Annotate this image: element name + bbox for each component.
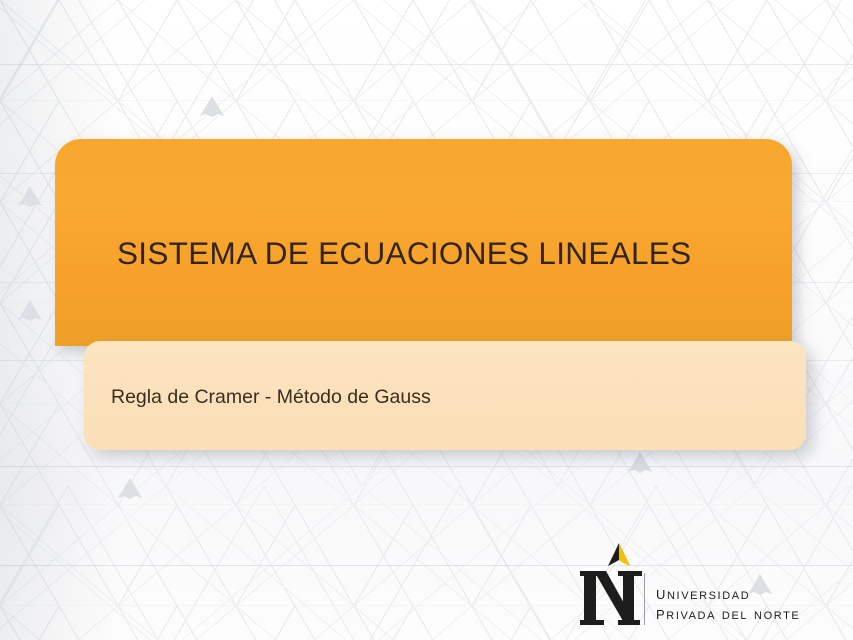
logo-wordmark: Universidad Privada del Norte — [656, 584, 800, 629]
chevron-up-icon — [118, 478, 142, 499]
upn-n-monogram-icon — [578, 541, 644, 629]
subtitle-card: Regla de Cramer - Método de Gauss — [84, 341, 806, 450]
chevron-up-icon — [18, 300, 42, 321]
logo-line-2: Privada del Norte — [656, 604, 800, 624]
logo-line-1: Universidad — [656, 584, 800, 604]
chevron-up-icon — [200, 96, 224, 117]
chevron-up-icon — [628, 452, 652, 473]
upn-logo: Universidad Privada del Norte — [578, 541, 843, 629]
page-subtitle: Regla de Cramer - Método de Gauss — [111, 386, 431, 409]
title-card: SISTEMA DE ECUACIONES LINEALES — [55, 139, 792, 346]
logo-divider — [644, 573, 645, 625]
chevron-up-icon — [18, 186, 42, 207]
page-title: SISTEMA DE ECUACIONES LINEALES — [117, 235, 691, 272]
presentation-slide: SISTEMA DE ECUACIONES LINEALES Regla de … — [0, 0, 853, 640]
